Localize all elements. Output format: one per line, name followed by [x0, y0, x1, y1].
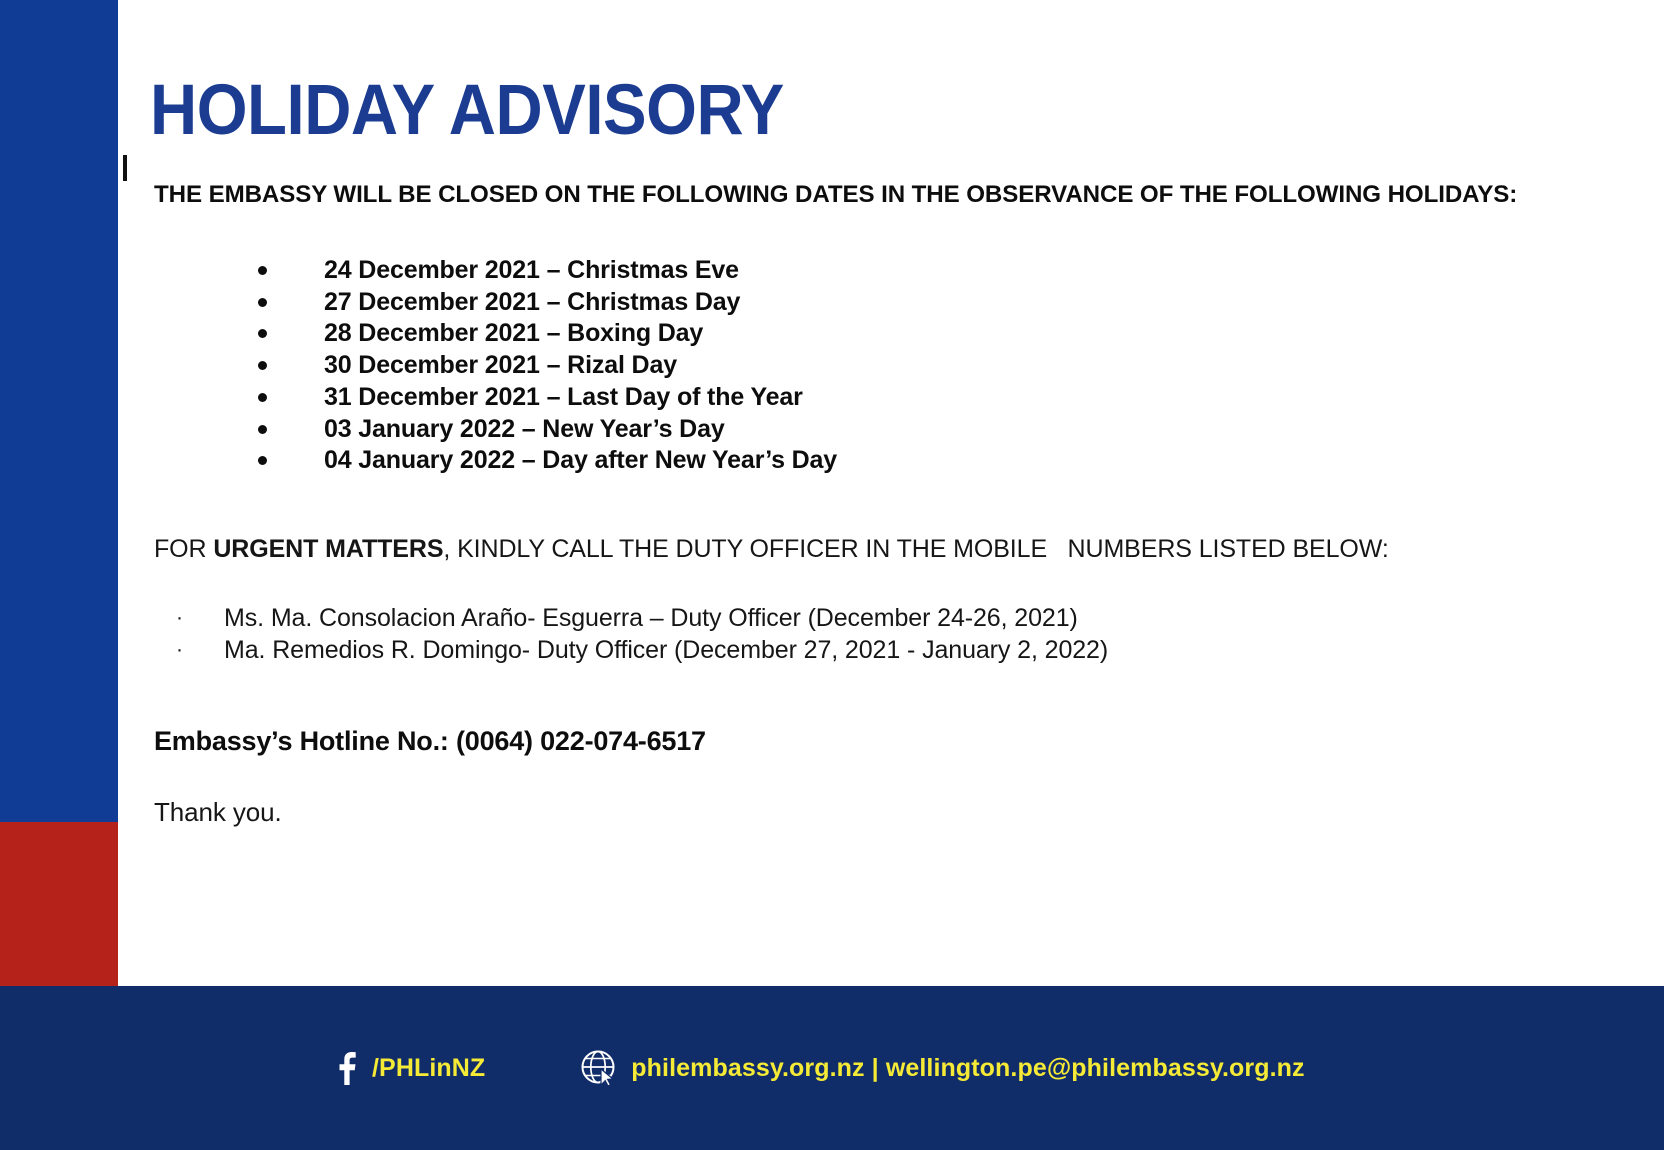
content-area: HOLIDAY ADVISORY THE EMBASSY WILL BE CLO…	[118, 0, 1664, 986]
urgent-emphasis: URGENT MATTERS	[213, 535, 443, 563]
stray-mark	[123, 155, 127, 181]
bullet-icon	[258, 393, 267, 402]
holiday-dates-list: 24 December 2021 – Christmas Eve 27 Dece…	[154, 255, 1354, 477]
hotline-number: Embassy’s Hotline No.: (0064) 022-074-65…	[154, 725, 706, 759]
holiday-label: 04 January 2022 – Day after New Year’s D…	[324, 446, 837, 474]
bullet-icon	[258, 329, 267, 338]
advisory-slide: HOLIDAY ADVISORY THE EMBASSY WILL BE CLO…	[0, 0, 1664, 1150]
holiday-label: 27 December 2021 – Christmas Day	[324, 288, 740, 316]
footer-bar: /PHLinNZ philembassy.org.nz | wellington…	[0, 986, 1664, 1150]
sidebar-red-block	[0, 822, 118, 986]
closing-text: Thank you.	[154, 796, 282, 829]
facebook-link[interactable]: /PHLinNZ	[330, 1051, 485, 1085]
intro-paragraph: THE EMBASSY WILL BE CLOSED ON THE FOLLOW…	[154, 177, 1563, 213]
middot-bullet-icon: ·	[176, 602, 183, 634]
bullet-icon	[258, 298, 267, 307]
list-item: 28 December 2021 – Boxing Day	[154, 318, 1354, 350]
bullet-icon	[258, 361, 267, 370]
footer-content: /PHLinNZ philembassy.org.nz | wellington…	[330, 1048, 1305, 1088]
list-item: ·Ma. Remedios R. Domingo- Duty Officer (…	[154, 634, 1504, 666]
list-item: 31 December 2021 – Last Day of the Year	[154, 382, 1354, 414]
holiday-label: 03 January 2022 – New Year’s Day	[324, 415, 725, 443]
urgent-matters-paragraph: FOR URGENT MATTERS, KINDLY CALL THE DUTY…	[154, 533, 1594, 566]
facebook-icon	[330, 1051, 360, 1085]
bullet-icon	[258, 266, 267, 275]
list-item: ·Ms. Ma. Consolacion Araño- Esguerra – D…	[154, 602, 1504, 634]
sidebar-blue-block	[0, 0, 118, 822]
duty-officers-list: ·Ms. Ma. Consolacion Araño- Esguerra – D…	[154, 602, 1504, 666]
page-title: HOLIDAY ADVISORY	[150, 74, 784, 149]
list-item: 27 December 2021 – Christmas Day	[154, 287, 1354, 319]
list-item: 03 January 2022 – New Year’s Day	[154, 414, 1354, 446]
duty-officer-label: Ms. Ma. Consolacion Araño- Esguerra – Du…	[224, 604, 1078, 632]
middot-bullet-icon: ·	[176, 634, 183, 666]
holiday-label: 31 December 2021 – Last Day of the Year	[324, 383, 803, 411]
list-item: 04 January 2022 – Day after New Year’s D…	[154, 445, 1354, 477]
list-item: 24 December 2021 – Christmas Eve	[154, 255, 1354, 287]
holiday-label: 30 December 2021 – Rizal Day	[324, 351, 677, 379]
globe-icon	[579, 1048, 619, 1088]
bullet-icon	[258, 425, 267, 434]
holiday-label: 28 December 2021 – Boxing Day	[324, 319, 703, 347]
website-contact[interactable]: philembassy.org.nz | wellington.pe@phile…	[579, 1048, 1304, 1088]
list-item: 30 December 2021 – Rizal Day	[154, 350, 1354, 382]
bullet-icon	[258, 456, 267, 465]
urgent-prefix: FOR	[154, 535, 213, 563]
web-contact-label: philembassy.org.nz | wellington.pe@phile…	[631, 1054, 1304, 1083]
duty-officer-label: Ma. Remedios R. Domingo- Duty Officer (D…	[224, 636, 1108, 664]
holiday-label: 24 December 2021 – Christmas Eve	[324, 256, 739, 284]
facebook-handle-label: /PHLinNZ	[372, 1054, 485, 1083]
urgent-suffix: , KINDLY CALL THE DUTY OFFICER IN THE MO…	[443, 535, 1388, 563]
